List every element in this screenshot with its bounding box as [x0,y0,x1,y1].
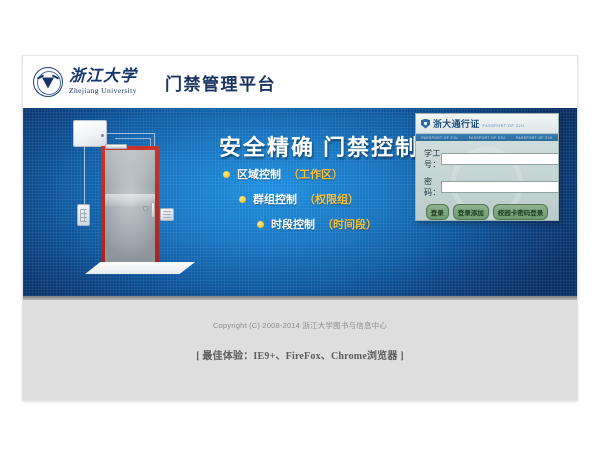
control-box-icon [73,120,107,147]
feature-bullet-1-text: 区域控制 [237,166,281,182]
strip-text-3: PASSPORT OF ZJU [516,136,553,140]
browser-recommendation-text: [ 最佳体验：IE9+、FireFox、Chrome浏览器 ] [196,347,404,362]
password-label: 密 码： [424,176,441,198]
username-label: 学工号： [424,148,441,170]
seal-bird-icon [42,77,54,88]
feature-bullet-1-paren: （工作区） [288,166,343,182]
university-logo[interactable]: 浙江大学 Zhejiang University [33,67,137,97]
login-panel-header: 浙大通行证 PASSPORT OF ZJU [416,114,558,134]
username-input[interactable] [441,153,559,165]
card-reader-icon [160,208,174,221]
site-header: 浙江大学 Zhejiang University 门禁管理平台 [23,56,577,108]
wire-secondary-run [115,138,151,139]
floor-plate [85,262,195,274]
door-closer-icon [105,144,127,149]
login-panel: 浙大通行证 PASSPORT OF ZJU PASSPORT OF ZJU PA… [415,113,559,221]
strip-text-1: PASSPORT OF ZJU [421,136,458,140]
login-panel-title-en: PASSPORT OF ZJU [483,124,525,128]
feature-bullet-2: 群组控制 （权限组） [239,191,377,207]
login-add-button[interactable]: 登录添加 [453,204,489,220]
logo-name-en: Zhejiang University [69,87,137,95]
feature-bullet-1: 区域控制 （工作区） [223,166,377,182]
banner-headline: 安全精确 门禁控制 [219,130,419,162]
zju-seal-icon [33,67,63,97]
bullet-dot-icon [239,196,246,203]
door-knob-icon [143,206,148,211]
door-handle-icon [151,202,155,218]
strip-text-2: PASSPORT OF ZJU [469,136,506,140]
site-footer: Copyright (C) 2008-2014 浙江大学图书与信息中心 [ 最佳… [23,300,577,400]
copyright-text: Copyright (C) 2008-2014 浙江大学图书与信息中心 [213,320,387,331]
logo-text: 浙江大学 Zhejiang University [69,69,137,95]
wire-top-run [107,133,155,134]
feature-bullet-3-text: 时段控制 [271,216,315,232]
page-shell: 浙江大学 Zhejiang University 门禁管理平台 [22,55,578,401]
login-panel-title-cn: 浙大通行证 [433,117,480,130]
bullet-dot-icon [223,171,230,178]
username-row: 学工号： [424,148,550,170]
hero-banner: 安全精确 门禁控制 区域控制 （工作区） 群组控制 （权限组） 时段控制 （时间… [23,108,577,296]
logo-name-cn: 浙江大学 [69,69,137,85]
wire-to-keypad [84,147,85,204]
feature-bullet-3-paren: （时间段） [322,216,377,232]
feature-bullet-2-text: 群组控制 [253,191,297,207]
feature-bullet-list: 区域控制 （工作区） 群组控制 （权限组） 时段控制 （时间段） [223,166,377,241]
access-control-door-illustration [55,114,205,294]
campus-card-login-button[interactable]: 校园卡密码登录 [493,204,549,220]
page-title: 门禁管理平台 [165,70,276,95]
feature-bullet-3: 时段控制 （时间段） [257,216,377,232]
password-row: 密 码： [424,176,550,198]
login-form: 学工号： 密 码： 登录 登录添加 校园卡密码登录 [416,141,558,221]
bullet-dot-icon [257,221,264,228]
passport-watermark-strip: PASSPORT OF ZJU PASSPORT OF ZJU PASSPORT… [416,134,558,141]
password-input[interactable] [441,181,559,193]
login-button[interactable]: 登录 [426,204,449,220]
keypad-icon [77,204,90,226]
login-button-row: 登录 登录添加 校园卡密码登录 [424,204,550,220]
shield-icon [421,119,430,129]
feature-bullet-2-paren: （权限组） [304,191,359,207]
